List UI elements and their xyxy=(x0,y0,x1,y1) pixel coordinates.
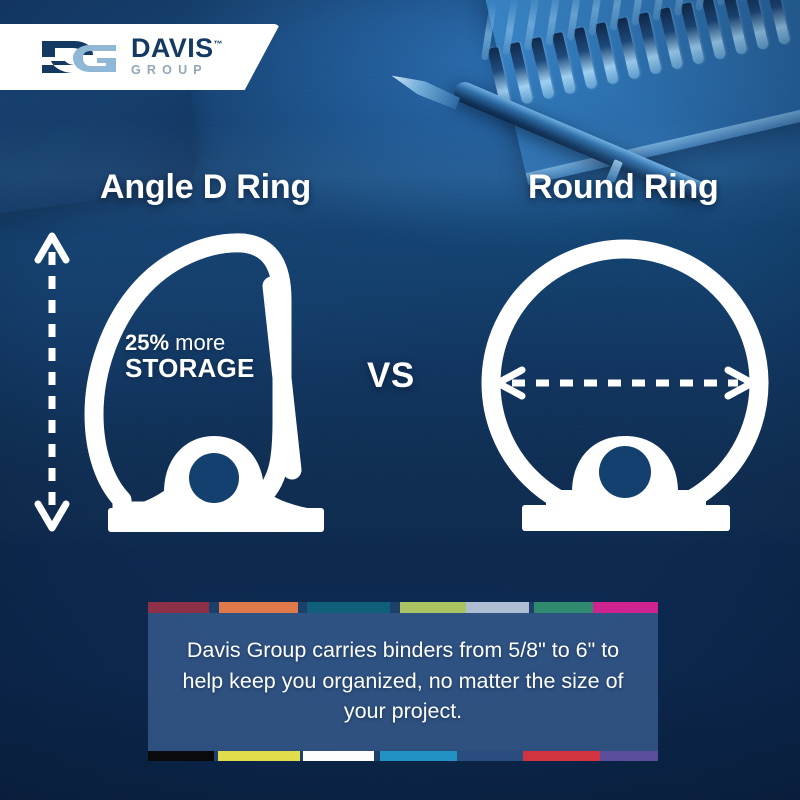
storage-emphasis: STORAGE xyxy=(125,355,275,382)
storage-percent: 25% xyxy=(125,330,169,355)
color-strip-segment xyxy=(457,751,523,761)
color-strip-segment xyxy=(298,602,307,613)
vertical-measure-arrow-icon xyxy=(38,236,66,528)
angle-d-ring-shape xyxy=(94,243,324,532)
color-strip-segment xyxy=(593,602,658,613)
infographic-canvas: DAVIS™ GROUP Angle D Ring Round Ring xyxy=(0,0,800,800)
color-strip-segment xyxy=(307,602,391,613)
storage-more: more xyxy=(169,330,225,355)
storage-callout-line-1: 25% more xyxy=(125,332,275,354)
color-strip-segment xyxy=(400,602,465,613)
caption-text: Davis Group carries binders from 5/8" to… xyxy=(182,635,624,727)
color-strip-segment xyxy=(209,602,219,613)
storage-callout: 25% more STORAGE xyxy=(125,332,275,383)
color-strip-top xyxy=(148,602,658,613)
caption-card: Davis Group carries binders from 5/8" to… xyxy=(148,602,658,761)
color-strip-bottom xyxy=(148,751,658,761)
color-strip-segment xyxy=(219,602,298,613)
versus-label: VS xyxy=(367,356,415,396)
color-strip-segment xyxy=(148,602,209,613)
color-strip-segment xyxy=(218,751,300,761)
horizontal-measure-arrow-icon xyxy=(498,370,752,396)
color-strip-segment xyxy=(303,751,374,761)
color-strip-segment xyxy=(390,602,400,613)
color-strip-segment xyxy=(600,751,658,761)
color-strip-segment xyxy=(380,751,458,761)
color-strip-segment xyxy=(523,751,600,761)
caption-body: Davis Group carries binders from 5/8" to… xyxy=(148,613,658,751)
color-strip-segment xyxy=(534,602,593,613)
round-ring-shape xyxy=(491,249,759,531)
color-strip-segment xyxy=(466,602,529,613)
color-strip-segment xyxy=(148,751,214,761)
